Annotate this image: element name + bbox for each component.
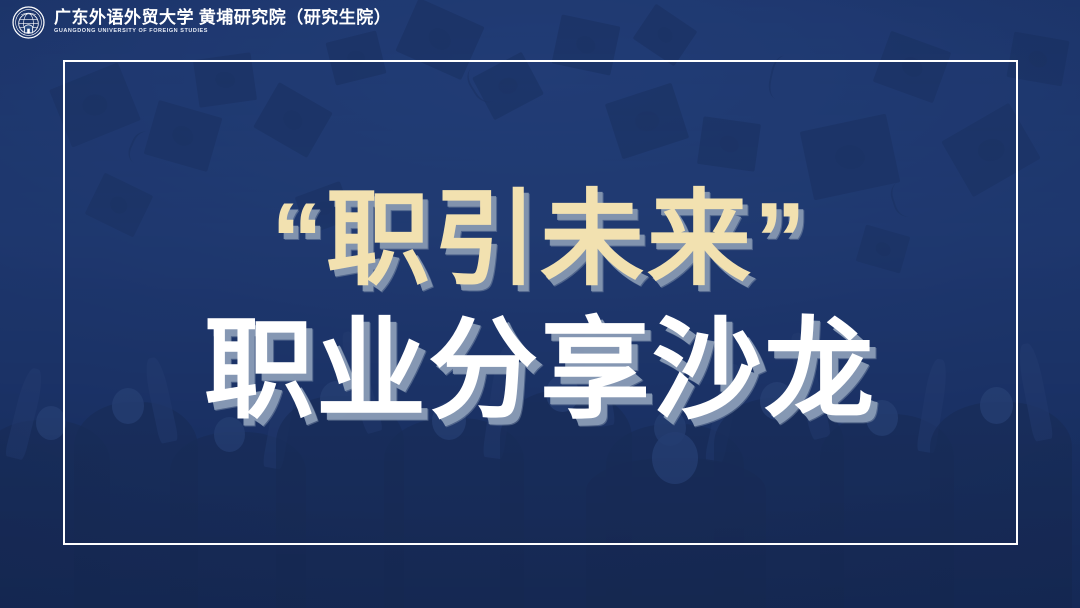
wordmark: 广东外语外贸大学 黄埔研究院（研究生院） GUANGDONG UNIVERSIT…: [54, 9, 391, 35]
brand-header: 广东外语外贸大学 黄埔研究院（研究生院） GUANGDONG UNIVERSIT…: [0, 0, 391, 44]
institute-name-en: GUANGDONG UNIVERSITY OF FOREIGN STUDIES: [54, 29, 186, 35]
title-line-primary: “职引未来”: [271, 188, 809, 292]
poster-canvas: 广东外语外贸大学 黄埔研究院（研究生院） GUANGDONG UNIVERSIT…: [0, 0, 1080, 608]
institute-name-cn: 广东外语外贸大学 黄埔研究院（研究生院）: [54, 9, 391, 26]
title-block: “职引未来” 职业分享沙龙: [0, 0, 1080, 608]
title-line-secondary: 职业分享沙龙: [204, 316, 876, 426]
university-seal-icon: [12, 6, 45, 39]
